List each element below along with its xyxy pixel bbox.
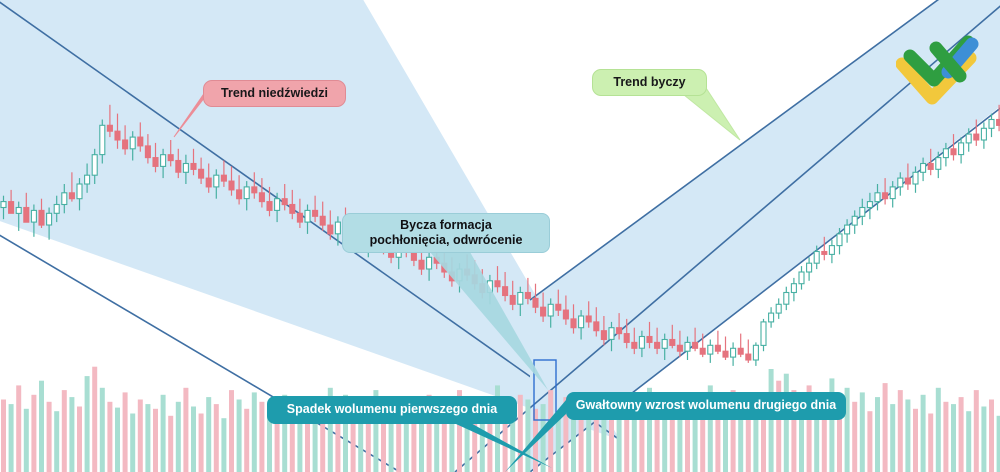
candle-body-up	[769, 313, 774, 322]
candle-body-down	[563, 310, 568, 319]
candle-body-down	[39, 210, 44, 225]
candle-body-up	[54, 205, 59, 214]
candle-body-down	[24, 208, 29, 223]
volume-bar	[85, 376, 90, 472]
candle-body-up	[244, 187, 249, 199]
candle-body-down	[677, 345, 682, 351]
candle-body-up	[518, 293, 523, 305]
volume-bar	[867, 411, 872, 472]
candle-body-up	[829, 246, 834, 255]
candle-body-down	[259, 193, 264, 202]
candle-body-up	[161, 155, 166, 167]
candle-body-down	[237, 190, 242, 199]
candle-body-down	[670, 340, 675, 346]
candle-body-down	[571, 319, 576, 328]
candle-body-up	[1, 202, 6, 208]
volume-bar	[966, 411, 971, 472]
volume-bar	[92, 367, 97, 472]
candle-body-up	[335, 222, 340, 234]
volume-bar	[358, 418, 363, 472]
candle-body-down	[624, 334, 629, 343]
candle-body-up	[92, 155, 97, 176]
volume-bar	[183, 388, 188, 472]
volume-bar	[229, 390, 234, 472]
candle-body-down	[822, 252, 827, 255]
candle-body-down	[221, 175, 226, 181]
volume-bar	[905, 400, 910, 472]
volume-bar	[153, 409, 158, 472]
candle-body-down	[168, 155, 173, 161]
candle-body-up	[214, 175, 219, 187]
candle-body-down	[647, 337, 652, 343]
candle-body-down	[723, 351, 728, 357]
candle-body-down	[267, 202, 272, 211]
candle-body-up	[936, 158, 941, 170]
volume-bar	[244, 409, 249, 472]
candle-body-down	[556, 304, 561, 310]
volume-bar	[525, 400, 530, 472]
candle-body-down	[419, 260, 424, 269]
candle-body-down	[229, 181, 234, 190]
volume-bar	[16, 385, 21, 472]
candle-body-down	[199, 169, 204, 178]
candle-body-down	[153, 158, 158, 167]
candle-body-down	[693, 342, 698, 348]
volume-bar	[898, 390, 903, 472]
candle-body-up	[548, 304, 553, 316]
liteforex-logo	[896, 28, 988, 112]
volume-bar	[921, 395, 926, 472]
candle-body-down	[655, 342, 660, 348]
candle-body-up	[62, 193, 67, 205]
candle-body-up	[31, 210, 36, 222]
candle-body-up	[662, 340, 667, 349]
volume-bar	[860, 392, 865, 472]
candle-body-up	[959, 143, 964, 155]
candle-body-down	[9, 202, 14, 214]
candle-body-down	[883, 193, 888, 199]
volume-bar	[936, 388, 941, 472]
volume-bar	[974, 390, 979, 472]
volume-bar	[609, 416, 614, 472]
candle-body-up	[860, 208, 865, 217]
candle-body-up	[708, 345, 713, 354]
candle-body-down	[297, 213, 302, 222]
volume-bar	[290, 416, 295, 472]
candle-body-up	[837, 234, 842, 246]
candle-body-down	[738, 348, 743, 354]
candle-body-up	[875, 193, 880, 202]
volume-bar	[693, 411, 698, 472]
candle-body-down	[328, 225, 333, 234]
candle-body-down	[176, 161, 181, 173]
candle-body-up	[427, 257, 432, 269]
candle-body-up	[685, 342, 690, 351]
candle-body-up	[807, 263, 812, 272]
candle-body-up	[731, 348, 736, 357]
volume-bar	[168, 416, 173, 472]
candle-body-up	[47, 213, 52, 225]
candle-body-up	[776, 304, 781, 313]
candle-body-up	[761, 322, 766, 346]
candle-body-down	[746, 354, 751, 360]
candle-body-up	[943, 149, 948, 158]
candle-body-up	[275, 199, 280, 211]
candle-body-up	[921, 164, 926, 173]
volume-bar	[24, 409, 29, 472]
volume-bar	[761, 416, 766, 472]
candle-body-up	[989, 120, 994, 129]
volume-bar	[39, 381, 44, 472]
volume-bar	[107, 402, 112, 472]
volume-bar	[715, 418, 720, 472]
callout-volume-day-one: Spadek wolumenu pierwszego dnia	[267, 396, 517, 424]
callout-volume-day-two: Gwałtowny wzrost wolumenu drugiego dnia	[566, 392, 846, 420]
candle-body-up	[799, 272, 804, 284]
candle-body-down	[617, 328, 622, 334]
volume-bar	[913, 409, 918, 472]
candle-body-down	[290, 205, 295, 214]
candle-body-down	[700, 348, 705, 354]
volume-bar	[221, 418, 226, 472]
volume-bar	[1, 400, 6, 472]
candle-body-down	[632, 342, 637, 348]
volume-bar	[943, 402, 948, 472]
volume-bar	[981, 407, 986, 472]
volume-bar	[115, 408, 120, 472]
candle-body-down	[928, 164, 933, 170]
volume-bar	[655, 414, 660, 472]
candle-body-down	[282, 199, 287, 205]
volume-bar	[161, 395, 166, 472]
candle-body-down	[951, 149, 956, 155]
candle-body-up	[183, 164, 188, 173]
candle-body-down	[594, 322, 599, 331]
candle-body-up	[609, 328, 614, 340]
volume-bar	[54, 411, 59, 472]
candle-body-up	[16, 208, 21, 214]
volume-bar	[259, 402, 264, 472]
volume-bar	[784, 374, 789, 472]
candle-body-down	[206, 178, 211, 187]
candle-body-down	[115, 131, 120, 140]
candle-body-down	[191, 164, 196, 170]
volume-bar	[237, 400, 242, 472]
candle-body-down	[533, 298, 538, 307]
volume-bar	[579, 411, 584, 472]
candle-body-up	[913, 172, 918, 184]
candle-body-down	[138, 137, 143, 146]
candle-body-down	[495, 281, 500, 287]
volume-bar	[69, 397, 74, 472]
candle-body-up	[77, 184, 82, 199]
candle-body-down	[525, 293, 530, 299]
volume-bar	[928, 414, 933, 472]
chart-screenshot: Trend niedźwiedzi Trend byczy Bycza form…	[0, 0, 1000, 472]
candle-body-down	[313, 210, 318, 216]
volume-bar	[951, 404, 956, 472]
candle-body-up	[85, 175, 90, 184]
candle-body-up	[305, 210, 310, 222]
candle-body-down	[107, 125, 112, 131]
candle-body-down	[69, 193, 74, 199]
volume-bar	[31, 395, 36, 472]
candle-body-down	[905, 178, 910, 184]
candle-body-down	[320, 216, 325, 225]
volume-bar	[989, 400, 994, 472]
volume-bar	[176, 402, 181, 472]
volume-bar	[548, 390, 553, 472]
candle-body-up	[791, 284, 796, 293]
candle-body-down	[715, 345, 720, 351]
candle-body-up	[852, 216, 857, 225]
candle-body-down	[997, 120, 1000, 126]
volume-bar	[852, 402, 857, 472]
volume-bar	[138, 400, 143, 472]
candle-body-down	[252, 187, 257, 193]
volume-bar	[890, 404, 895, 472]
candle-body-down	[510, 296, 515, 305]
volume-bar	[883, 383, 888, 472]
volume-bar	[252, 392, 257, 472]
callout-bear-trend: Trend niedźwiedzi	[203, 80, 346, 107]
candle-body-up	[784, 293, 789, 305]
candle-body-up	[100, 125, 105, 154]
volume-bar	[959, 397, 964, 472]
candle-body-down	[503, 287, 508, 296]
candle-body-up	[898, 178, 903, 187]
candle-body-down	[145, 146, 150, 158]
candle-body-down	[974, 134, 979, 140]
volume-bar	[130, 414, 135, 472]
candle-body-up	[814, 252, 819, 264]
volume-bar	[77, 407, 82, 472]
candle-body-down	[123, 140, 128, 149]
volume-bar	[541, 404, 546, 472]
candle-body-up	[845, 225, 850, 234]
volume-bar	[875, 397, 880, 472]
volume-bar	[199, 414, 204, 472]
volume-bar	[997, 416, 1000, 472]
candle-body-up	[639, 337, 644, 349]
volume-bar	[9, 404, 14, 472]
volume-bar	[214, 404, 219, 472]
volume-bar	[518, 395, 523, 472]
candle-body-up	[130, 137, 135, 149]
volume-bar	[100, 388, 105, 472]
volume-bar	[769, 369, 774, 472]
volume-bar	[411, 416, 416, 472]
volume-bar	[206, 397, 211, 472]
candle-body-down	[541, 307, 546, 316]
candle-body-up	[753, 345, 758, 360]
callout-bull-trend: Trend byczy	[592, 69, 707, 96]
candle-body-up	[981, 128, 986, 140]
callout-bullish-engulfing: Bycza formacja pochłonięcia, odwrócenie	[342, 213, 550, 253]
candle-body-up	[890, 187, 895, 199]
candle-body-up	[579, 316, 584, 328]
candle-body-down	[586, 316, 591, 322]
volume-bar	[145, 404, 150, 472]
candle-body-up	[867, 202, 872, 208]
volume-bar	[123, 392, 128, 472]
volume-bar	[191, 407, 196, 472]
volume-bar	[62, 390, 67, 472]
candle-body-down	[601, 331, 606, 340]
candle-body-up	[966, 134, 971, 143]
volume-bar	[47, 402, 52, 472]
